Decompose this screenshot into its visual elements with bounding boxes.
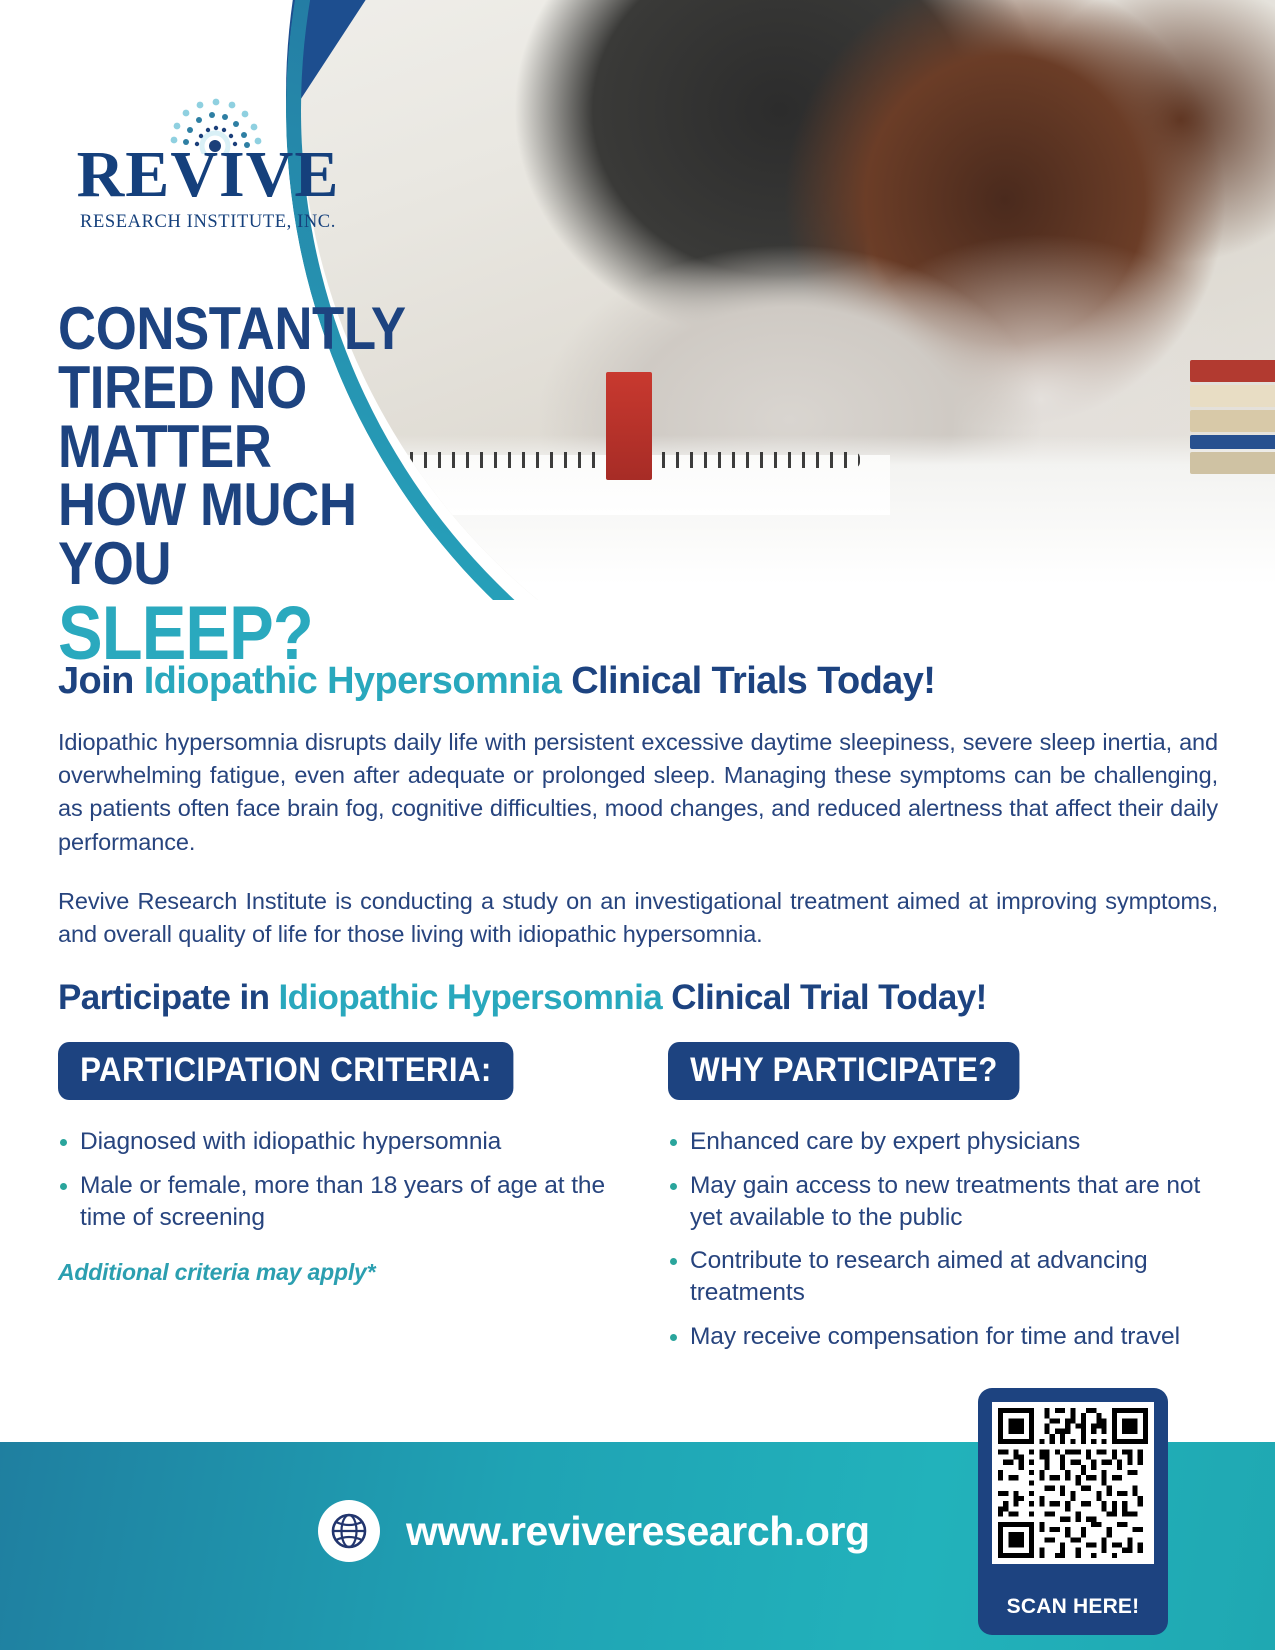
main-content: Join Idiopathic Hypersomnia Clinical Tri…: [58, 660, 1218, 1365]
participation-criteria-header: PARTICIPATION CRITERIA:: [58, 1042, 514, 1100]
scan-here-label: SCAN HERE!: [978, 1595, 1168, 1619]
participate-subhead-highlight: Idiopathic Hypersomnia: [279, 978, 663, 1017]
headline-line-2: TIRED NO MATTER: [58, 359, 472, 477]
list-item: Diagnosed with idiopathic hypersomnia: [58, 1126, 618, 1158]
list-item: May gain access to new treatments that a…: [668, 1170, 1213, 1234]
qr-panel[interactable]: SCAN HERE!: [978, 1388, 1168, 1635]
why-participate-column: WHY PARTICIPATE? Enhanced care by expert…: [668, 1042, 1213, 1365]
headline-line-1: CONSTANTLY: [58, 300, 472, 359]
globe-icon-badge: [318, 1500, 380, 1562]
list-item: Enhanced care by expert physicians: [668, 1126, 1213, 1158]
participate-subhead: Participate in Idiopathic Hypersomnia Cl…: [58, 978, 1218, 1018]
list-item: Male or female, more than 18 years of ag…: [58, 1170, 618, 1234]
list-item: May receive compensation for time and tr…: [668, 1321, 1213, 1353]
flyer-page: REVIVE RESEARCH INSTITUTE, INC. CONSTANT…: [0, 0, 1275, 1650]
hero-headline: CONSTANTLY TIRED NO MATTER HOW MUCH YOU …: [58, 300, 472, 675]
why-participate-header: WHY PARTICIPATE?: [668, 1042, 1020, 1100]
globe-icon: [327, 1509, 371, 1553]
footer-website-group[interactable]: www.reviveresearch.org: [318, 1500, 870, 1562]
logo: REVIVE RESEARCH INSTITUTE, INC.: [58, 96, 358, 241]
website-url[interactable]: www.reviveresearch.org: [406, 1508, 870, 1555]
logo-wordmark: REVIVE: [58, 142, 358, 208]
participation-criteria-list: Diagnosed with idiopathic hypersomnia Ma…: [58, 1126, 618, 1234]
participate-subhead-suffix: Clinical Trial Today!: [662, 978, 987, 1017]
headline-emphasis: SLEEP?: [58, 594, 472, 675]
why-participate-list: Enhanced care by expert physicians May g…: [668, 1126, 1213, 1353]
headline-line-3: HOW MUCH YOU: [58, 476, 472, 594]
list-item: Contribute to research aimed at advancin…: [668, 1245, 1213, 1309]
logo-tagline: RESEARCH INSTITUTE, INC.: [58, 212, 358, 233]
additional-criteria-note: Additional criteria may apply*: [58, 1259, 618, 1286]
main-subhead-suffix: Clinical Trials Today!: [561, 660, 935, 702]
logo-wordmark-text: REVIVE: [77, 138, 340, 211]
participation-criteria-column: PARTICIPATION CRITERIA: Diagnosed with i…: [58, 1042, 618, 1365]
two-column-section: PARTICIPATION CRITERIA: Diagnosed with i…: [58, 1042, 1218, 1365]
intro-paragraph-1: Idiopathic hypersomnia disrupts daily li…: [58, 726, 1218, 859]
qr-code-icon[interactable]: [992, 1402, 1154, 1564]
participate-subhead-prefix: Participate in: [58, 978, 279, 1017]
intro-paragraph-2: Revive Research Institute is conducting …: [58, 885, 1218, 952]
